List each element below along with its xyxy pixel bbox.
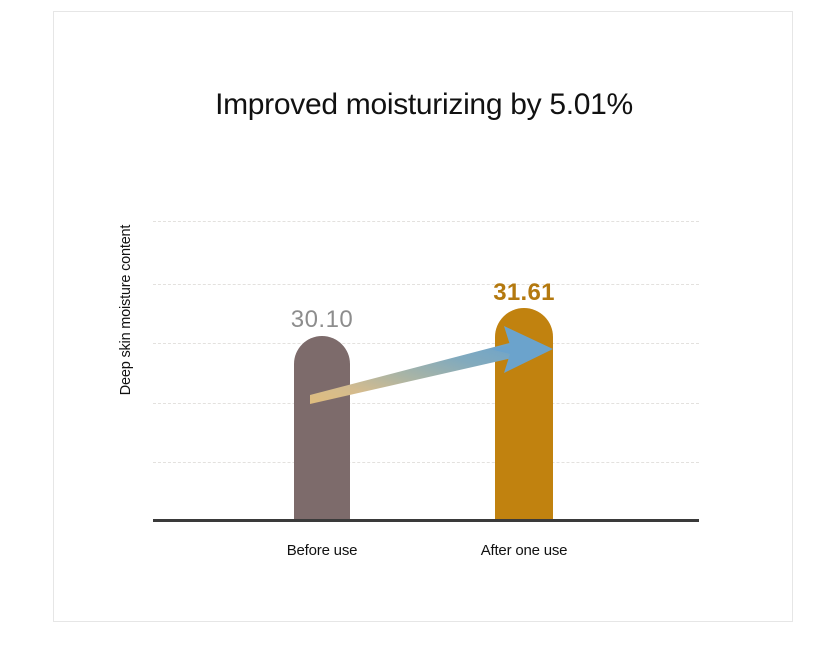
plot-area bbox=[153, 197, 699, 522]
gridline bbox=[153, 403, 699, 404]
category-label-before-use: Before use bbox=[242, 542, 402, 559]
bar-before-use[interactable] bbox=[294, 336, 350, 519]
gridline bbox=[153, 462, 699, 463]
y-axis-title: Deep skin moisture content bbox=[118, 180, 134, 440]
bar-value-label-before-use: 30.10 bbox=[262, 306, 382, 334]
chart-title: Improved moisturizing by 5.01% bbox=[54, 88, 794, 122]
bar-after-one-use[interactable] bbox=[495, 308, 553, 519]
gridline bbox=[153, 343, 699, 344]
chart-card: Improved moisturizing by 5.01% Deep skin… bbox=[53, 11, 793, 622]
category-label-after-one-use: After one use bbox=[444, 542, 604, 559]
x-axis-line bbox=[153, 519, 699, 522]
gridline bbox=[153, 284, 699, 285]
bar-value-label-after-one-use: 31.61 bbox=[464, 279, 584, 307]
gridline bbox=[153, 221, 699, 222]
